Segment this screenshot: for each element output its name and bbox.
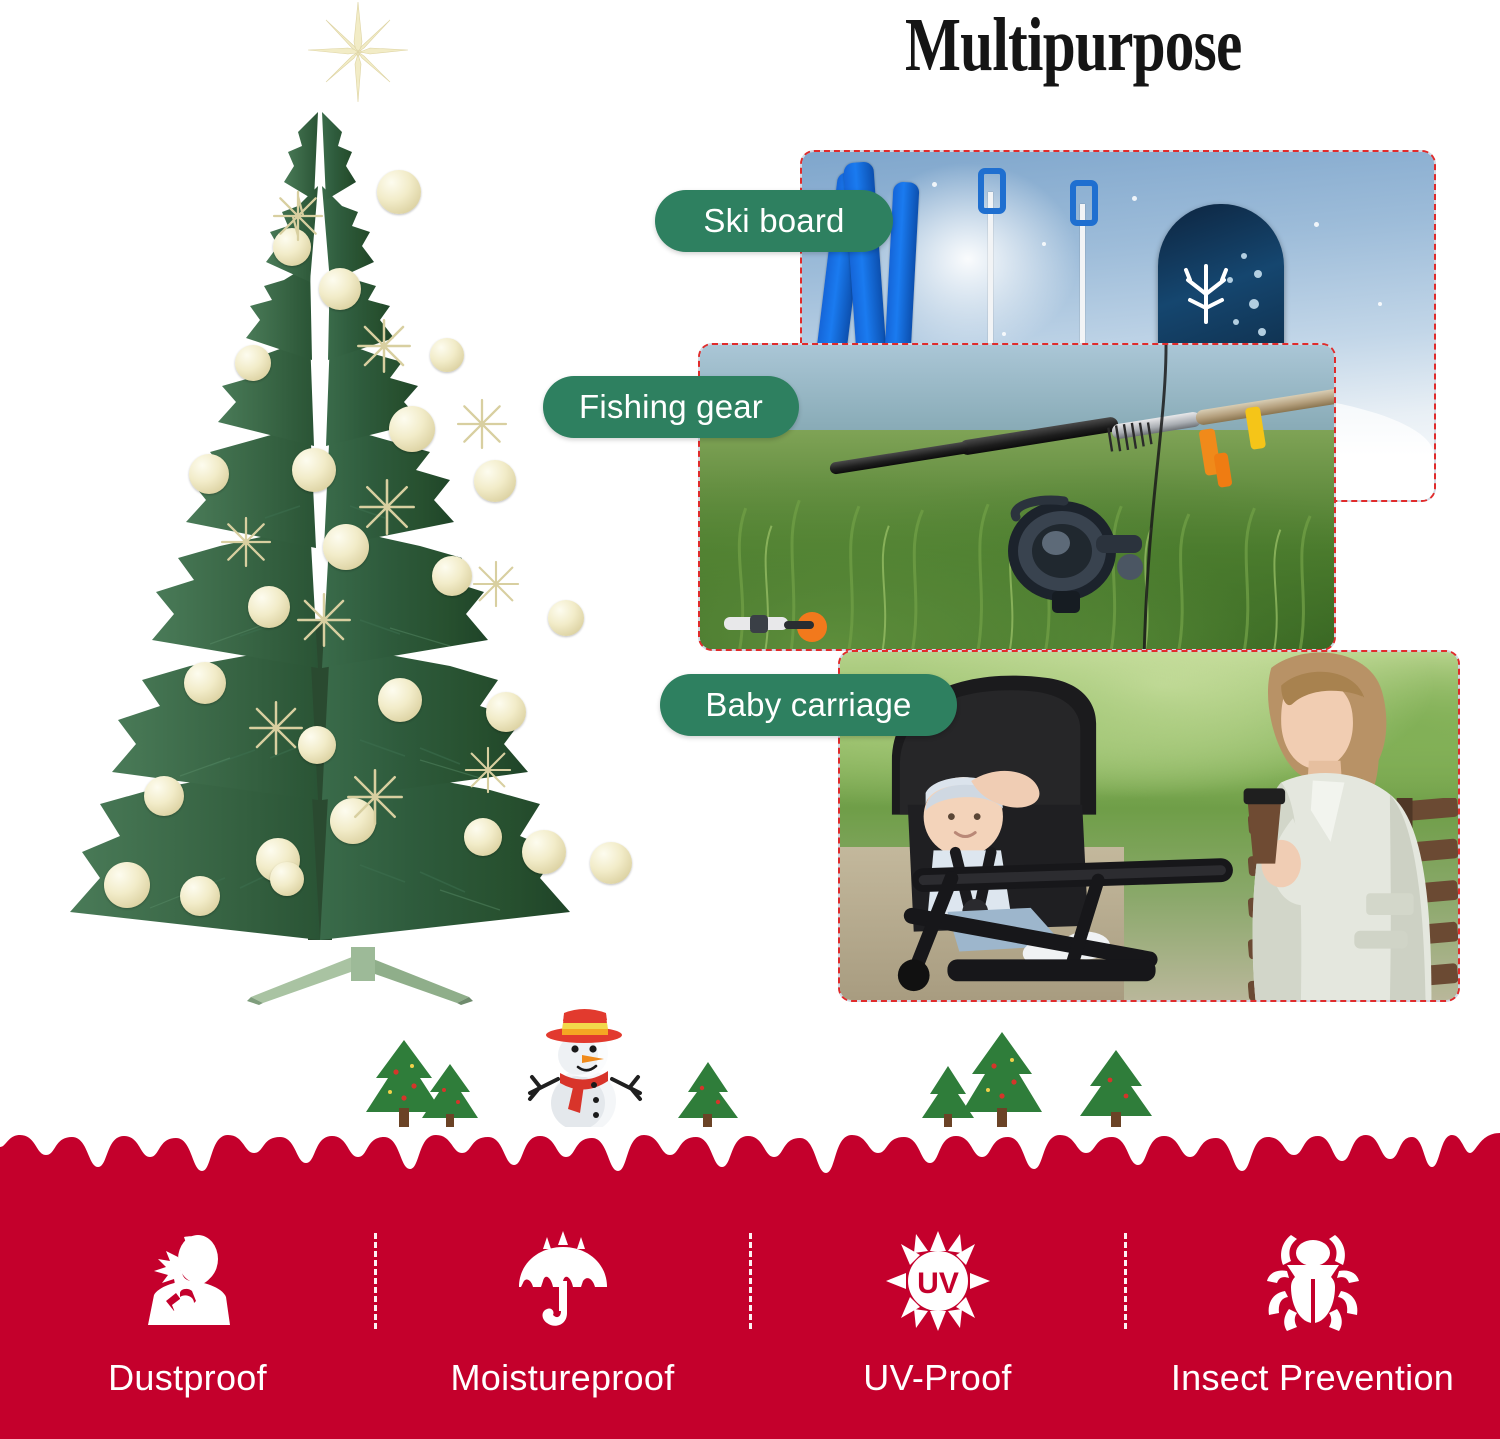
dustproof-icon bbox=[136, 1227, 240, 1335]
winter-scene-decor bbox=[0, 1000, 1500, 1130]
snow-particle bbox=[932, 182, 937, 187]
ornament-ball bbox=[378, 678, 422, 722]
ornament-ball bbox=[522, 830, 566, 874]
ornament-ball bbox=[189, 454, 229, 494]
label-baby-carriage[interactable]: Baby carriage bbox=[660, 674, 957, 736]
ornament-ball bbox=[377, 170, 421, 214]
ski-pole-grip bbox=[978, 168, 1006, 214]
feature-list: Dustproof bbox=[0, 1227, 1500, 1427]
ornament-ball bbox=[389, 406, 435, 452]
uv-sun-icon: UV bbox=[886, 1227, 990, 1335]
ornament-ball bbox=[548, 600, 584, 636]
uv-icon-text: UV bbox=[917, 1267, 959, 1300]
snow-particle bbox=[1042, 242, 1046, 246]
ornament-ball bbox=[474, 460, 516, 502]
ornament-ball bbox=[432, 556, 472, 596]
fishing-line bbox=[700, 345, 1334, 649]
ornament-ball bbox=[184, 662, 226, 704]
page-title: Multipurpose bbox=[905, 2, 1241, 89]
ornament-ball bbox=[319, 268, 361, 310]
ornament-ball bbox=[430, 338, 464, 372]
starburst-ornament bbox=[472, 560, 520, 608]
tree-stand bbox=[245, 945, 475, 1005]
feature-moistureproof: Moistureproof bbox=[375, 1227, 750, 1427]
label-ski-board[interactable]: Ski board bbox=[655, 190, 893, 252]
product-image-christmas-tree bbox=[60, 0, 580, 1030]
ornament-ball bbox=[248, 586, 290, 628]
starburst-ornament bbox=[220, 516, 272, 568]
ornament-ball bbox=[464, 818, 502, 856]
starburst-ornament bbox=[356, 318, 412, 374]
starburst-ornament bbox=[272, 190, 324, 242]
feature-label: Insect Prevention bbox=[1171, 1357, 1454, 1399]
snow-particle bbox=[1378, 302, 1382, 306]
feature-label: Moistureproof bbox=[451, 1357, 675, 1399]
snow-particle bbox=[1314, 222, 1319, 227]
ornament-ball bbox=[144, 776, 184, 816]
ornament-ball bbox=[180, 876, 220, 916]
feature-insect-prevention: Insect Prevention bbox=[1125, 1227, 1500, 1427]
starburst-ornament bbox=[296, 592, 352, 648]
snow-particle bbox=[1132, 196, 1137, 201]
insect-icon bbox=[1261, 1227, 1365, 1335]
starburst-ornament bbox=[464, 746, 512, 794]
ornament-ball bbox=[590, 842, 632, 884]
feature-dustproof: Dustproof bbox=[0, 1227, 375, 1427]
umbrella-icon bbox=[511, 1227, 615, 1335]
snow-icicle-edge bbox=[0, 1127, 1500, 1183]
ornament-ball bbox=[235, 345, 271, 381]
pine-tree bbox=[678, 1062, 738, 1130]
starburst-ornament bbox=[456, 398, 508, 450]
pine-tree bbox=[1080, 1050, 1152, 1130]
snow-particle bbox=[1002, 332, 1006, 336]
ski-pole-grip bbox=[1070, 180, 1098, 226]
pine-tree bbox=[922, 1066, 974, 1130]
snowman-decor bbox=[520, 1005, 650, 1135]
starburst-ornament bbox=[248, 700, 304, 756]
ornament-ball bbox=[486, 692, 526, 732]
feature-uv-proof: UV UV-Proof bbox=[750, 1227, 1125, 1427]
ornament-ball bbox=[292, 448, 336, 492]
features-banner: Dustproof bbox=[0, 1127, 1500, 1439]
ornament-ball bbox=[104, 862, 150, 908]
pine-tree bbox=[962, 1032, 1042, 1130]
starburst-ornament bbox=[346, 768, 404, 826]
feature-label: UV-Proof bbox=[863, 1357, 1011, 1399]
starburst-ornament bbox=[358, 478, 416, 536]
ornament-ball bbox=[270, 862, 304, 896]
feature-label: Dustproof bbox=[108, 1357, 267, 1399]
label-fishing-gear[interactable]: Fishing gear bbox=[543, 376, 799, 438]
